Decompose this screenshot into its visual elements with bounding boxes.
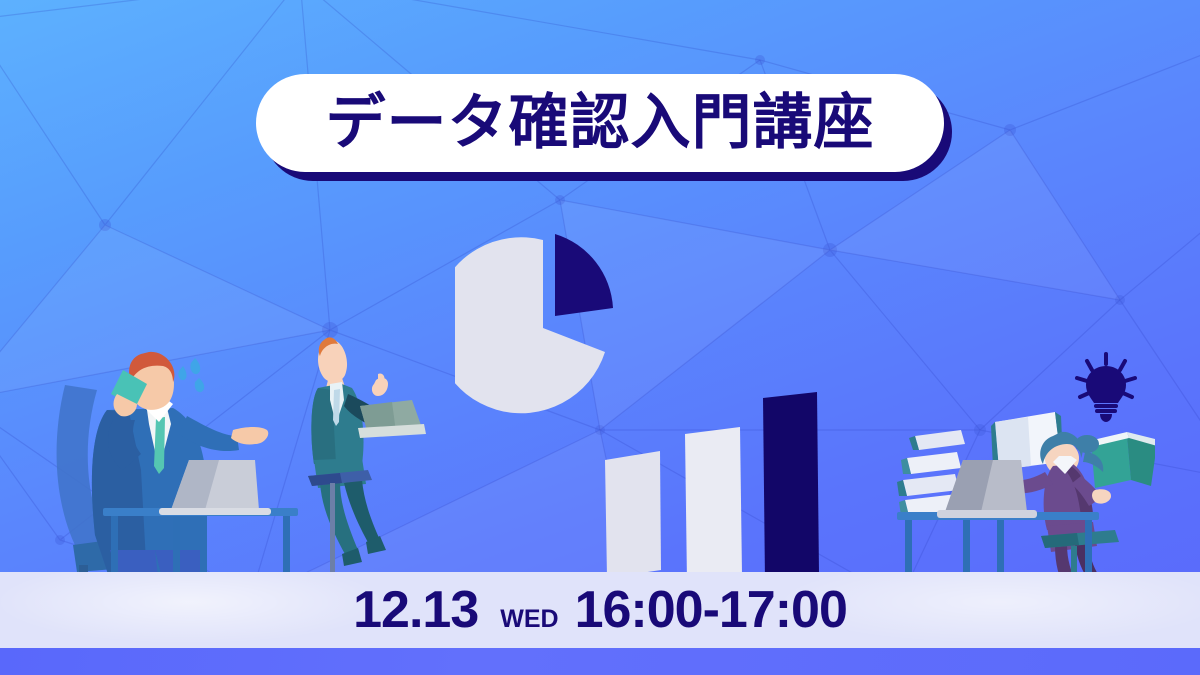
illustration-businessman-on-phone [55,350,305,590]
event-day-of-week: WED [500,607,558,632]
bar-chart [595,390,835,585]
date-band: 12.13 WED 16:00-17:00 [0,572,1200,648]
page-title: データ確認入門講座 [326,93,875,153]
seminar-banner: データ確認入門講座 12.13 WED 16:00-17:00 [0,0,1200,675]
bottom-accent-strip [0,648,1200,675]
bar-1 [605,451,661,578]
title-pill-surface: データ確認入門講座 [256,74,944,172]
event-date: 12.13 [353,584,478,636]
title-pill: データ確認入門講座 [256,74,944,172]
bar-3 [763,392,819,582]
date-text-group: 12.13 WED 16:00-17:00 [353,584,847,636]
lightbulb-icon [1074,352,1138,422]
bar-2 [685,427,742,583]
illustration-person-on-stool-with-laptop [300,328,430,586]
event-time-range: 16:00-17:00 [575,584,847,636]
